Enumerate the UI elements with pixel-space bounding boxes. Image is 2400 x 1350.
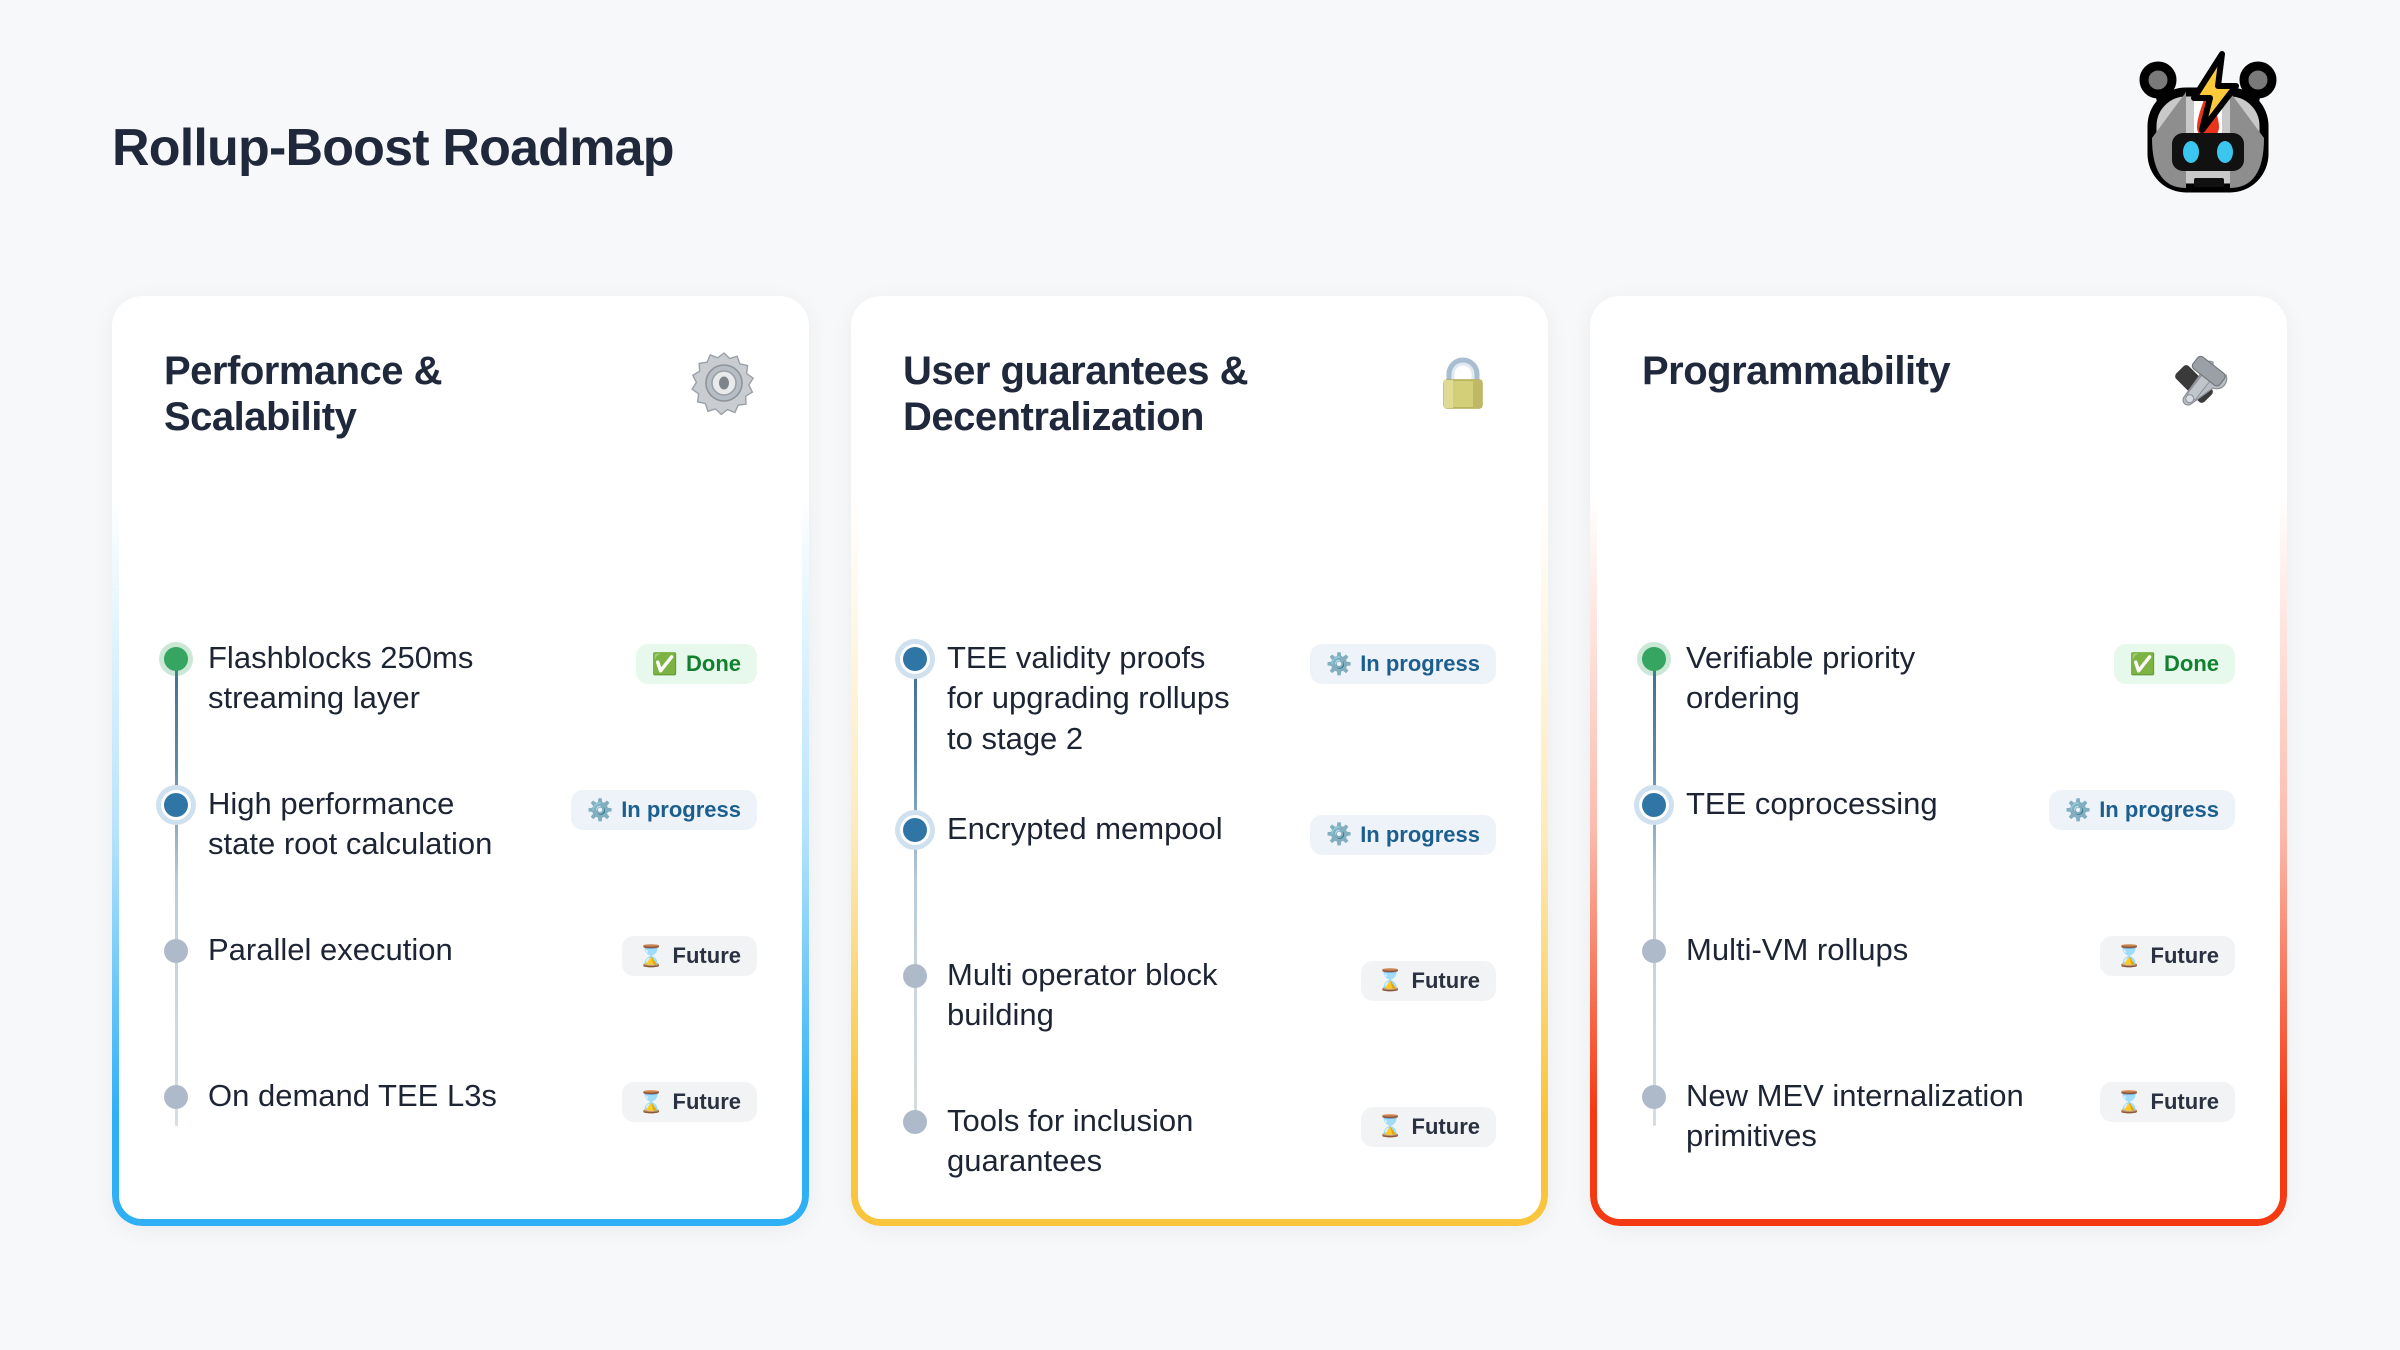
- list-item[interactable]: Flashblocks 250ms streaming layer ✅ Done: [164, 638, 757, 734]
- item-label: Tools for inclusion guarantees: [947, 1101, 1237, 1182]
- flashbots-robot-logo-icon: [2122, 38, 2294, 210]
- status-badge: ⌛ Future: [622, 936, 757, 976]
- hourglass-icon: ⌛: [638, 946, 664, 967]
- hourglass-icon: ⌛: [2116, 946, 2142, 967]
- list-item[interactable]: New MEV internalization primitives ⌛ Fut…: [1642, 1076, 2235, 1172]
- card-header: Programmability: [1642, 348, 2235, 508]
- status-dot-done: [164, 647, 188, 671]
- list-item[interactable]: On demand TEE L3s ⌛ Future: [164, 1076, 757, 1172]
- status-badge-label: Future: [673, 945, 741, 967]
- gear-icon: ⚙️: [1326, 824, 1352, 845]
- card-user-guarantees-decentralization[interactable]: User guarantees & Decentralization TEE v…: [851, 296, 1548, 1226]
- status-dot-in-progress: [903, 818, 927, 842]
- status-badge-label: Future: [2151, 945, 2219, 967]
- gear-icon: ⚙️: [587, 800, 613, 821]
- status-dot-in-progress: [903, 647, 927, 671]
- status-badge: ✅ Done: [2114, 644, 2235, 684]
- status-badge: ⌛ Future: [1361, 961, 1496, 1001]
- status-dot-future: [903, 964, 927, 988]
- hourglass-icon: ⌛: [1377, 1116, 1403, 1137]
- list-item[interactable]: Encrypted mempool ⚙️ In progress: [903, 809, 1496, 905]
- gear-icon: ⚙️: [2065, 800, 2091, 821]
- item-label: Multi-VM rollups: [1686, 930, 1908, 970]
- page-header: Rollup-Boost Roadmap: [0, 0, 2400, 290]
- hammer-and-wrench-emoji-icon: [2169, 350, 2235, 416]
- status-dot-future: [1642, 1085, 1666, 1109]
- status-dot-in-progress: [1642, 793, 1666, 817]
- timeline: TEE validity proofs for upgrading rollup…: [903, 638, 1496, 1197]
- list-item[interactable]: Parallel execution ⌛ Future: [164, 930, 757, 1026]
- item-label: High performance state root calculation: [208, 784, 508, 865]
- item-label: New MEV internalization primitives: [1686, 1076, 2036, 1157]
- card-title: User guarantees & Decentralization: [903, 348, 1333, 441]
- timeline: Verifiable priority ordering ✅ Done TEE …: [1642, 638, 2235, 1172]
- item-label: Parallel execution: [208, 930, 453, 970]
- status-dot-in-progress: [164, 793, 188, 817]
- status-badge: ⌛ Future: [2100, 936, 2235, 976]
- check-mark-icon: ✅: [2130, 654, 2156, 675]
- status-badge-label: Done: [686, 653, 741, 675]
- status-badge-label: Future: [1412, 970, 1480, 992]
- timeline: Flashblocks 250ms streaming layer ✅ Done…: [164, 638, 757, 1172]
- item-label: Verifiable priority ordering: [1686, 638, 2036, 719]
- status-badge-label: Future: [673, 1091, 741, 1113]
- card-programmability[interactable]: Programmability: [1590, 296, 2287, 1226]
- status-badge: ⌛ Future: [2100, 1082, 2235, 1122]
- card-title: Programmability: [1642, 348, 1950, 394]
- status-badge: ⚙️ In progress: [571, 790, 757, 830]
- item-label: TEE coprocessing: [1686, 784, 1938, 824]
- hourglass-icon: ⌛: [638, 1092, 664, 1113]
- item-label: Multi operator block building: [947, 955, 1237, 1036]
- status-dot-future: [903, 1110, 927, 1134]
- list-item[interactable]: Multi operator block building ⌛ Future: [903, 955, 1496, 1051]
- status-badge-label: Future: [1412, 1116, 1480, 1138]
- status-badge-label: Done: [2164, 653, 2219, 675]
- item-label: Encrypted mempool: [947, 809, 1223, 849]
- status-badge: ⚙️ In progress: [2049, 790, 2235, 830]
- status-dot-future: [1642, 939, 1666, 963]
- status-dot-future: [164, 1085, 188, 1109]
- lock-emoji-icon: [1430, 350, 1496, 416]
- list-item[interactable]: Tools for inclusion guarantees ⌛ Future: [903, 1101, 1496, 1197]
- status-badge-label: Future: [2151, 1091, 2219, 1113]
- status-badge-label: In progress: [1360, 653, 1480, 675]
- list-item[interactable]: Multi-VM rollups ⌛ Future: [1642, 930, 2235, 1026]
- status-badge: ⚙️ In progress: [1310, 815, 1496, 855]
- card-title: Performance & Scalability: [164, 348, 594, 441]
- status-badge-label: In progress: [621, 799, 741, 821]
- hourglass-icon: ⌛: [1377, 970, 1403, 991]
- list-item[interactable]: TEE coprocessing ⚙️ In progress: [1642, 784, 2235, 880]
- check-mark-icon: ✅: [652, 654, 678, 675]
- gear-icon: ⚙️: [1326, 654, 1352, 675]
- status-badge: ✅ Done: [636, 644, 757, 684]
- item-label: On demand TEE L3s: [208, 1076, 497, 1116]
- card-performance-scalability[interactable]: Performance & Scalability Flashblocks 25…: [112, 296, 809, 1226]
- status-badge-label: In progress: [2099, 799, 2219, 821]
- status-dot-done: [1642, 647, 1666, 671]
- status-badge-label: In progress: [1360, 824, 1480, 846]
- card-header: User guarantees & Decentralization: [903, 348, 1496, 508]
- gear-emoji-icon: [691, 350, 757, 416]
- list-item[interactable]: High performance state root calculation …: [164, 784, 757, 880]
- page-title: Rollup-Boost Roadmap: [112, 118, 674, 178]
- card-header: Performance & Scalability: [164, 348, 757, 508]
- list-item[interactable]: Verifiable priority ordering ✅ Done: [1642, 638, 2235, 734]
- item-label: TEE validity proofs for upgrading rollup…: [947, 638, 1237, 759]
- status-badge: ⌛ Future: [622, 1082, 757, 1122]
- list-item[interactable]: TEE validity proofs for upgrading rollup…: [903, 638, 1496, 759]
- item-label: Flashblocks 250ms streaming layer: [208, 638, 508, 719]
- status-badge: ⌛ Future: [1361, 1107, 1496, 1147]
- status-badge: ⚙️ In progress: [1310, 644, 1496, 684]
- status-dot-future: [164, 939, 188, 963]
- roadmap-cards: Performance & Scalability Flashblocks 25…: [112, 296, 2288, 1226]
- hourglass-icon: ⌛: [2116, 1092, 2142, 1113]
